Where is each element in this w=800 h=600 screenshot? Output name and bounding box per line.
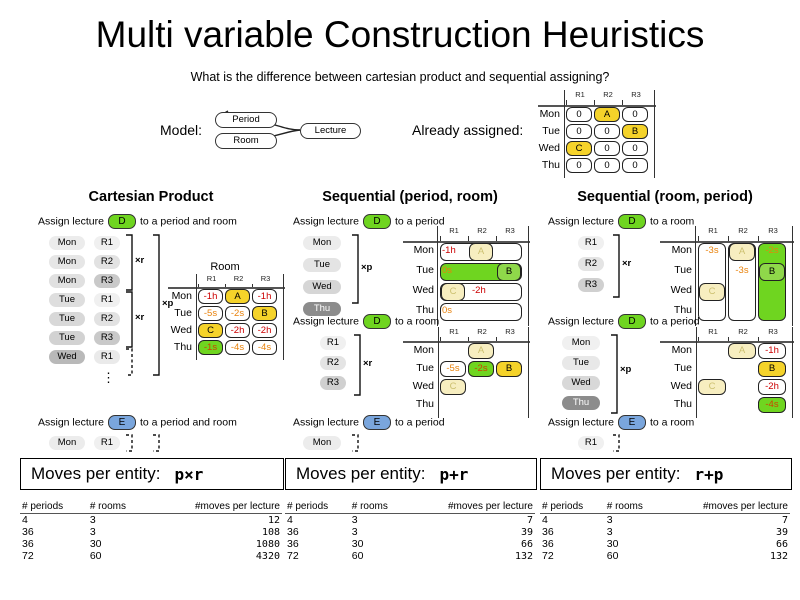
grid-col-header: R1 (440, 327, 468, 336)
grid-right-rule (283, 274, 284, 360)
grid-cell: -1h (252, 289, 277, 304)
grid-row-header: Tue (168, 307, 192, 319)
grid-bar-label: 0s (442, 265, 452, 276)
grid-col-header: R2 (225, 274, 252, 283)
section-title: Sequential (period, room) (285, 189, 535, 205)
grid-cell: -2h (225, 323, 250, 338)
stats-cell: 4 (540, 514, 605, 527)
grid-bar-label: -2s (760, 245, 784, 256)
moves-per-entity-box: Moves per entity:r+p (540, 458, 792, 490)
stats-cell: 132 (407, 550, 535, 562)
grid-cell: -2h (252, 323, 277, 338)
grid-row-header: Mon (168, 290, 192, 302)
bracket (125, 291, 134, 348)
list-pill: Mon (49, 236, 85, 250)
grid-caption: Room (195, 261, 255, 273)
grid-right-rule (528, 226, 529, 326)
grid-row-header: Mon (403, 344, 434, 356)
moves-per-entity-label: Moves per entity: (31, 464, 160, 484)
grid-col-header: R1 (198, 274, 225, 283)
bracket (152, 234, 161, 376)
grid-bar-chip: A (469, 243, 493, 261)
grid-col-header: R3 (496, 327, 524, 336)
grid-col-header: R1 (440, 226, 468, 235)
moves-per-entity-formula: r+p (694, 465, 723, 484)
table-row: 363066 (285, 538, 535, 550)
list-pill: R2 (320, 356, 346, 370)
stats-header: # periods (285, 500, 350, 514)
stats-cell: 7 (407, 514, 535, 527)
bracket (351, 234, 360, 304)
page-subtitle: What is the difference between cartesian… (0, 70, 800, 84)
list-pill: Mon (303, 236, 341, 250)
grid-cell: C (566, 141, 592, 156)
grid-cell: 0 (594, 158, 620, 173)
assign-prefix: Assign lecture (548, 416, 614, 428)
list-pill: Tue (303, 258, 341, 272)
grid-col-header: R3 (252, 274, 279, 283)
grid-cell: -2h (758, 379, 786, 395)
stats-cell: 60 (605, 550, 663, 562)
bracket (353, 334, 362, 396)
stats-cell: 36 (285, 526, 350, 538)
table-row: 437 (285, 514, 535, 527)
assign-lecture-line: Assign lectureDto a period (293, 214, 445, 229)
list-pill: R1 (94, 236, 120, 250)
lecture-badge-d[interactable]: D (363, 314, 391, 329)
grid-cell: -2s (225, 306, 250, 321)
grid-cell: A (594, 107, 620, 122)
stats-cell: 4 (285, 514, 350, 527)
grid-right-rule (792, 327, 793, 418)
grid-cell: 0 (566, 107, 592, 122)
assign-prefix: Assign lecture (548, 315, 614, 327)
stats-cell: 66 (662, 538, 790, 550)
stats-cell: 3 (350, 526, 408, 538)
assign-prefix: Assign lecture (293, 315, 359, 327)
grid-cell: C (198, 323, 223, 338)
bracket (610, 334, 619, 414)
grid-cell: -1h (758, 343, 786, 359)
assign-prefix: Assign lecture (548, 215, 614, 227)
grid-cell: C (440, 379, 466, 395)
list-pill: Tue (49, 312, 85, 326)
lecture-badge-d[interactable]: D (618, 214, 646, 229)
bracket (612, 234, 621, 298)
grid-cell: -4s (758, 397, 786, 413)
stats-header: # rooms (350, 500, 408, 514)
grid-row-header: Tue (403, 362, 434, 374)
table-row: 7260132 (285, 550, 535, 562)
table-row: 36339 (285, 526, 535, 538)
list-pill: Tue (562, 356, 600, 370)
grid-col-header: R2 (468, 327, 496, 336)
assign-prefix: Assign lecture (38, 215, 104, 227)
grid-row-header: Tue (538, 125, 560, 137)
stats-header: # rooms (605, 500, 663, 514)
grid-bar-chip: B (759, 263, 785, 281)
moves-per-entity-box: Moves per entity:p×r (20, 458, 284, 490)
assign-suffix: to a period and room (140, 416, 237, 428)
stats-cell: 72 (540, 550, 605, 562)
assign-suffix: to a period and room (140, 215, 237, 227)
stats-cell: 72 (20, 550, 88, 562)
grid-left-rule (696, 327, 697, 418)
grid-col-header: R1 (566, 90, 594, 99)
grid-cell: A (468, 343, 494, 359)
stats-cell: 66 (407, 538, 535, 550)
list-pill: Mon (49, 274, 85, 288)
grid-bar-chip: B (497, 263, 521, 281)
grid-left-rule (438, 327, 439, 418)
assign-lecture-line: Assign lectureDto a room (293, 314, 439, 329)
lecture-badge-e[interactable]: E (363, 415, 391, 430)
model-node-period[interactable]: Period (215, 112, 277, 128)
bracket (612, 434, 621, 452)
stats-cell: 60 (350, 550, 408, 562)
stats-cell: 39 (407, 526, 535, 538)
table-row: 437 (540, 514, 790, 527)
table-row: 363108 (20, 526, 282, 538)
assign-lecture-line: Assign lectureEto a room (548, 415, 694, 430)
grid-cell: -1h (198, 289, 223, 304)
lecture-badge-d[interactable]: D (108, 214, 136, 229)
grid-header-rule (403, 341, 530, 343)
multiplier-label: ×p (620, 364, 631, 375)
grid-row-header: Wed (538, 142, 560, 154)
moves-per-entity-formula: p×r (174, 465, 203, 484)
list-pill: R1 (94, 293, 120, 307)
list-pill: R1 (578, 236, 604, 250)
stats-header: # periods (20, 500, 88, 514)
stats-cell: 30 (350, 538, 408, 550)
stats-cell: 1080 (148, 538, 282, 550)
list-pill: Mon (303, 436, 341, 450)
table-row: 36301080 (20, 538, 282, 550)
stats-cell: 108 (148, 526, 282, 538)
grid-right-rule (654, 90, 655, 178)
stats-cell: 30 (605, 538, 663, 550)
stats-table: # periods# rooms#moves per lecture437363… (540, 500, 790, 562)
grid-row-header: Mon (660, 344, 692, 356)
list-pill: R3 (94, 331, 120, 345)
grid-row-header: Wed (660, 380, 692, 392)
list-pill: Wed (49, 350, 85, 364)
grid-row-header: Mon (538, 108, 560, 120)
grid-row-header: Thu (660, 398, 692, 410)
grid-cell: A (728, 343, 756, 359)
grid-bar-chip: C (699, 283, 725, 301)
stats-header: #moves per lecture (662, 500, 790, 514)
lecture-badge-d[interactable]: D (363, 214, 391, 229)
list-pill: Mon (49, 436, 85, 450)
grid-cell: C (698, 379, 726, 395)
assign-lecture-line: Assign lectureDto a period (548, 314, 700, 329)
grid-cell: 0 (622, 141, 648, 156)
grid-row-header: Wed (403, 380, 434, 392)
grid-row-header: Tue (660, 264, 692, 276)
grid-left-rule (437, 226, 438, 326)
grid-cell: B (252, 306, 277, 321)
grid-col-header: R3 (496, 226, 524, 235)
grid-cell: B (622, 124, 648, 139)
assign-lecture-line: Assign lectureEto a period and room (38, 415, 237, 430)
stats-cell: 3 (88, 526, 148, 538)
stats-header: #moves per lecture (148, 500, 282, 514)
grid-cell: 0 (566, 124, 592, 139)
stats-cell: 7 (662, 514, 790, 527)
grid-left-rule (564, 90, 565, 178)
grid-row-header: Tue (660, 362, 692, 374)
grid-cell: 0 (622, 158, 648, 173)
assign-lecture-line: Assign lectureEto a period (293, 415, 445, 430)
grid-row-header: Thu (168, 341, 192, 353)
stats-cell: 36 (20, 526, 88, 538)
lecture-badge-e[interactable]: E (618, 415, 646, 430)
list-pill: R3 (320, 376, 346, 390)
list-pill: R1 (94, 436, 120, 450)
stats-cell: 60 (88, 550, 148, 562)
multiplier-label: ×p (361, 262, 372, 273)
bracket (351, 434, 360, 452)
moves-per-entity-box: Moves per entity:p+r (285, 458, 537, 490)
assign-suffix: to a room (650, 215, 694, 227)
assign-suffix: to a period (395, 416, 445, 428)
page-title: Multi variable Construction Heuristics (0, 14, 800, 56)
stats-cell: 30 (88, 538, 148, 550)
bracket (125, 434, 134, 452)
grid-right-rule (528, 327, 529, 418)
grid-cell: A (225, 289, 250, 304)
grid-bar-label: 0s (442, 305, 452, 316)
stats-cell: 36 (20, 538, 88, 550)
stats-cell: 72 (285, 550, 350, 562)
assign-suffix: to a period (650, 315, 700, 327)
grid-row-bar (440, 303, 522, 321)
table-row: 4312 (20, 514, 282, 527)
stats-cell: 3 (88, 514, 148, 527)
moves-per-entity-label: Moves per entity: (551, 464, 680, 484)
grid-col-header: R3 (622, 90, 650, 99)
already-assigned-label: Already assigned: (412, 122, 523, 138)
assign-lecture-line: Assign lectureDto a period and room (38, 214, 237, 229)
table-row: 72604320 (20, 550, 282, 562)
multiplier-label: ×r (622, 258, 631, 269)
grid-col-header: R2 (728, 327, 758, 336)
assign-suffix: to a room (395, 315, 439, 327)
grid-cell: -5s (440, 361, 466, 377)
grid-row-header: Tue (403, 264, 434, 276)
grid-bar-label: -1h (442, 245, 456, 256)
grid-cell: 0 (622, 107, 648, 122)
grid-cell: -4s (252, 340, 277, 355)
list-pill: R3 (94, 274, 120, 288)
grid-col-header: R1 (698, 226, 728, 235)
grid-col-header: R2 (594, 90, 622, 99)
lecture-badge-e[interactable]: E (108, 415, 136, 430)
stats-header: # rooms (88, 500, 148, 514)
grid-bar-chip: A (729, 243, 755, 261)
grid-row-header: Wed (660, 284, 692, 296)
stats-cell: 36 (285, 538, 350, 550)
bracket (152, 434, 161, 452)
grid-row-header: Mon (660, 244, 692, 256)
list-pill: Mon (49, 255, 85, 269)
list-pill: R2 (94, 312, 120, 326)
stats-cell: 36 (540, 526, 605, 538)
multiplier-label: ×r (135, 312, 144, 323)
grid-row-header: Wed (403, 284, 434, 296)
list-pill: Mon (562, 336, 600, 350)
grid-row-header: Mon (403, 244, 434, 256)
list-pill: R2 (578, 257, 604, 271)
multiplier-label: ×r (135, 255, 144, 266)
grid-cell: B (758, 361, 786, 377)
stats-cell: 12 (148, 514, 282, 527)
list-pill: R1 (94, 350, 120, 364)
stats-cell: 4 (20, 514, 88, 527)
stats-cell: 36 (540, 538, 605, 550)
bracket (125, 348, 134, 376)
list-pill: R2 (94, 255, 120, 269)
list-pill: R1 (320, 336, 346, 350)
stats-cell: 3 (350, 514, 408, 527)
grid-right-rule (792, 226, 793, 326)
stats-header: #moves per lecture (407, 500, 535, 514)
list-pill: R3 (578, 278, 604, 292)
stats-header: # periods (540, 500, 605, 514)
assign-prefix: Assign lecture (293, 215, 359, 227)
vertical-dots: ⋮ (102, 370, 115, 386)
stats-cell: 3 (605, 514, 663, 527)
lecture-badge-d[interactable]: D (618, 314, 646, 329)
grid-cell: 0 (566, 158, 592, 173)
grid-left-rule (196, 274, 197, 360)
section-title: Cartesian Product (20, 189, 282, 205)
moves-per-entity-label: Moves per entity: (296, 464, 425, 484)
table-row: 363066 (540, 538, 790, 550)
grid-cell: -4s (225, 340, 250, 355)
list-pill: Tue (49, 331, 85, 345)
grid-col-header: R2 (468, 226, 496, 235)
grid-cell: B (496, 361, 522, 377)
assign-prefix: Assign lecture (293, 416, 359, 428)
moves-per-entity-formula: p+r (439, 465, 468, 484)
multiplier-label: ×r (363, 358, 372, 369)
grid-row-header: Thu (538, 159, 560, 171)
grid-col-header: R2 (728, 226, 758, 235)
table-row: 36339 (540, 526, 790, 538)
model-node-lecture[interactable]: Lecture (300, 123, 361, 139)
slide-root: Multi variable Construction Heuristics W… (0, 0, 800, 600)
assign-suffix: to a room (650, 416, 694, 428)
grid-bar-chip: C (441, 283, 465, 301)
stats-cell: 39 (662, 526, 790, 538)
table-row: 7260132 (540, 550, 790, 562)
grid-cell: -1s (198, 340, 223, 355)
grid-left-rule (695, 226, 696, 326)
grid-row-header: Wed (168, 324, 192, 336)
grid-cell: -5s (198, 306, 223, 321)
assign-lecture-line: Assign lectureDto a room (548, 214, 694, 229)
bracket (125, 234, 134, 291)
grid-bar-label: -3s (700, 245, 724, 256)
stats-table: # periods# rooms#moves per lecture431236… (20, 500, 282, 562)
list-pill: Wed (562, 376, 600, 390)
stats-cell: 132 (662, 550, 790, 562)
grid-col-header: R3 (758, 226, 788, 235)
assign-prefix: Assign lecture (38, 416, 104, 428)
stats-cell: 4320 (148, 550, 282, 562)
grid-row-header: Thu (403, 398, 434, 410)
list-pill: Tue (49, 293, 85, 307)
grid-cell: 0 (594, 141, 620, 156)
grid-cell: 0 (594, 124, 620, 139)
model-node-room[interactable]: Room (215, 133, 277, 149)
section-title: Sequential (room, period) (540, 189, 790, 205)
stats-table: # periods# rooms#moves per lecture437363… (285, 500, 535, 562)
grid-bar-label: -2h (472, 285, 486, 296)
grid-cell: -2s (468, 361, 494, 377)
stats-cell: 3 (605, 526, 663, 538)
list-pill: Wed (303, 280, 341, 294)
list-pill: Thu (562, 396, 600, 410)
grid-bar-label: -3s (730, 265, 754, 276)
list-pill: R1 (578, 436, 604, 450)
grid-col-header: R1 (698, 327, 728, 336)
grid-col-header: R3 (758, 327, 788, 336)
